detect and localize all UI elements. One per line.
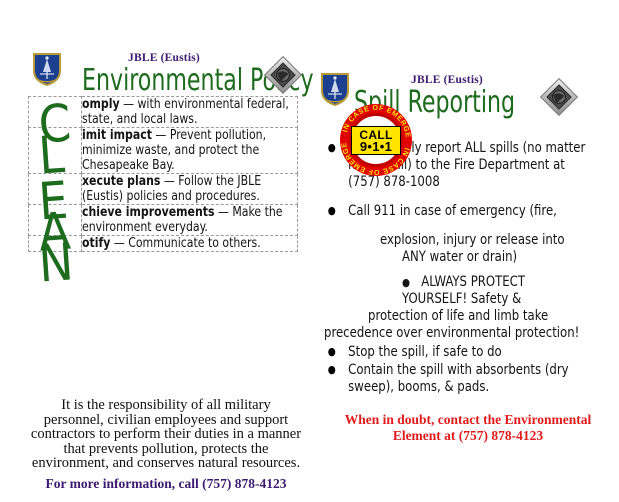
spill-reporting-panel: JBLE (Eustis) Spill Reporting Immediatel…: [312, 0, 612, 502]
clean-item-bold: imit impact: [82, 127, 152, 143]
left-header: JBLE (Eustis) Environmental Policy: [18, 0, 308, 58]
call-911-emergency-badge: IN CASE OF EMERGENCY IN CASE OF EMERGENC…: [340, 104, 412, 176]
clean-row: L imit impact — Prevent pollution, minim…: [29, 128, 298, 174]
bullet-glyph-icon: [402, 274, 421, 290]
spill-bullet-item: Contain the spill with absorbents (dry s…: [324, 362, 592, 396]
spill-flow-line: explosion, injury or release into: [380, 232, 596, 249]
clean-acrostic-table: C omply — with environmental federal, st…: [28, 96, 298, 252]
clean-row: N otify — Communicate to others.: [29, 236, 298, 252]
clean-item-bold: otify: [82, 235, 110, 251]
clean-item-text: imit impact — Prevent pollution, minimiz…: [82, 128, 298, 173]
footer-line-1: When in doubt, contact the Environmental: [334, 412, 602, 428]
badge-number-label: 9•1•1: [352, 141, 400, 153]
clean-text-cell: xecute plans — Follow the JBLE (Eustis) …: [82, 174, 298, 205]
badge-call-box: CALL 9•1•1: [351, 126, 401, 155]
clean-item-bold: chieve improvements: [82, 204, 214, 220]
clean-item-bold: xecute plans: [82, 173, 160, 189]
more-information-line: For more information, call (757) 878-412…: [30, 476, 302, 492]
spill-flow-line: ALWAYS PROTECT: [421, 274, 525, 290]
clean-item-text: chieve improvements — Make the environme…: [82, 205, 298, 235]
environmental-diamond-icon: [264, 56, 302, 94]
spill-flow-line: ANY water or drain): [402, 249, 597, 266]
clean-row: E xecute plans — Follow the JBLE (Eustis…: [29, 174, 298, 205]
spill-bullet-item: Stop the spill, if safe to do: [324, 344, 592, 361]
air-force-shield-emblem: [32, 52, 62, 86]
spill-flow-line: protection of life and limb take: [368, 308, 595, 325]
air-force-shield-emblem: [320, 72, 350, 106]
spill-flow-line: YOURSELF! Safety &: [402, 291, 597, 308]
spill-inline-bullet-line: ALWAYS PROTECT: [402, 274, 597, 291]
environmental-policy-panel: JBLE (Eustis) Environmental Policy C: [18, 0, 308, 502]
clean-item-bold: omply: [82, 96, 120, 112]
clean-letter-cell: L: [29, 128, 82, 174]
clean-row: C omply — with environmental federal, st…: [29, 97, 298, 128]
clean-text-cell: omply — with environmental federal, stat…: [82, 97, 298, 128]
clean-text-cell: imit impact — Prevent pollution, minimiz…: [82, 128, 298, 174]
clean-big-letter: N: [37, 236, 75, 290]
clean-letter-cell: A: [29, 205, 82, 236]
clean-item-text: otify — Communicate to others.: [82, 236, 298, 251]
clean-item-text: omply — with environmental federal, stat…: [82, 97, 298, 127]
clean-letter-cell: N: [29, 236, 82, 252]
clean-letter-cell: E: [29, 174, 82, 205]
footer-line-2: Element at (757) 878-4123: [334, 428, 602, 444]
clean-text-cell: chieve improvements — Make the environme…: [82, 205, 298, 236]
right-header: JBLE (Eustis) Spill Reporting: [312, 0, 612, 58]
spill-instructions: Immediately report ALL spills (no matter…: [324, 140, 612, 396]
spill-bullet-item: Call 911 in case of emergency (fire,: [324, 203, 592, 220]
spill-red-footer: When in doubt, contact the Environmental…: [334, 412, 602, 444]
environmental-diamond-icon: [540, 78, 578, 116]
clean-letter-cell: C: [29, 97, 82, 128]
policy-closing-paragraph: It is the responsibility of all military…: [30, 398, 302, 471]
spill-flow-line: precedence over environmental protection…: [324, 325, 592, 342]
spill-bullet-list-bottom: Stop the spill, if safe to do Contain th…: [324, 344, 612, 396]
clean-item-text: xecute plans — Follow the JBLE (Eustis) …: [82, 174, 298, 204]
clean-item-rest: — Communicate to others.: [110, 235, 260, 251]
clean-text-cell: otify — Communicate to others.: [82, 236, 298, 252]
